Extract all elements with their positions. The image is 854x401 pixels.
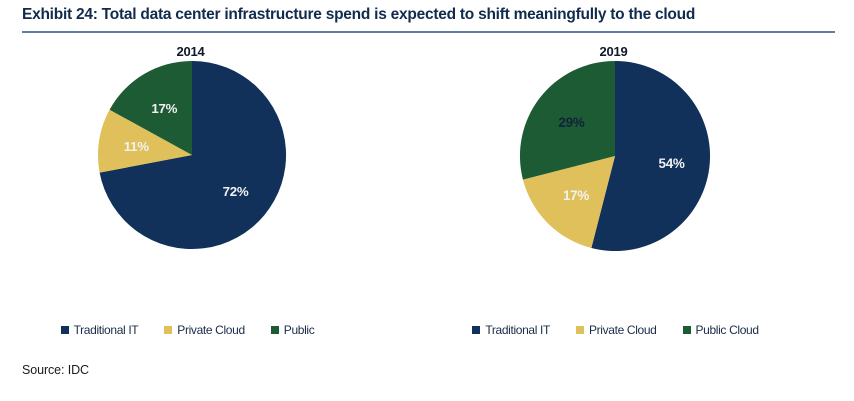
legend-item[interactable]: Traditional IT bbox=[61, 323, 139, 337]
legend-swatch-icon bbox=[472, 326, 480, 334]
legend-item[interactable]: Traditional IT bbox=[472, 323, 550, 337]
legend-item-label: Traditional IT bbox=[74, 323, 139, 337]
source-note: Source: IDC bbox=[22, 363, 89, 377]
legend-2014: Traditional IT Private Cloud Public bbox=[0, 323, 401, 337]
legend-2019: Traditional IT Private Cloud Public Clou… bbox=[402, 323, 829, 337]
legend-item-label: Private Cloud bbox=[177, 323, 245, 337]
legend-item[interactable]: Public Cloud bbox=[683, 323, 759, 337]
legend-swatch-icon bbox=[683, 326, 691, 334]
legend-item-label: Public Cloud bbox=[696, 323, 759, 337]
pie-slice-label: 17% bbox=[563, 188, 589, 203]
legend-item[interactable]: Private Cloud bbox=[164, 323, 245, 337]
pie-slice-label: 54% bbox=[659, 156, 685, 171]
title-divider bbox=[22, 31, 835, 33]
pie-svg-2019: 54%17%29% bbox=[519, 60, 711, 252]
pie-slice-label: 29% bbox=[558, 115, 584, 130]
chart-panel-2014: 2014 72%11%17% Traditional IT Private Cl… bbox=[0, 40, 427, 355]
pie-slice-label: 11% bbox=[124, 139, 149, 154]
legend-swatch-icon bbox=[164, 326, 172, 334]
legend-item[interactable]: Private Cloud bbox=[576, 323, 657, 337]
legend-item-label: Public bbox=[284, 323, 315, 337]
pie-svg-2014: 72%11%17% bbox=[97, 60, 287, 250]
chart-panel-2019: 2019 54%17%29% Traditional IT Private Cl… bbox=[427, 40, 854, 355]
pie-chart-2019: 54%17%29% bbox=[519, 60, 711, 252]
legend-item[interactable]: Public bbox=[271, 323, 315, 337]
pie-slice-label: 72% bbox=[223, 184, 249, 199]
legend-swatch-icon bbox=[576, 326, 584, 334]
pie-slice-label: 17% bbox=[151, 101, 177, 116]
page-title: Exhibit 24: Total data center infrastruc… bbox=[22, 6, 838, 24]
panel-year-label: 2014 bbox=[0, 44, 404, 59]
legend-item-label: Traditional IT bbox=[485, 323, 550, 337]
pie-chart-2014: 72%11%17% bbox=[97, 60, 287, 250]
legend-item-label: Private Cloud bbox=[589, 323, 657, 337]
panel-year-label: 2019 bbox=[400, 44, 827, 59]
legend-swatch-icon bbox=[61, 326, 69, 334]
legend-swatch-icon bbox=[271, 326, 279, 334]
